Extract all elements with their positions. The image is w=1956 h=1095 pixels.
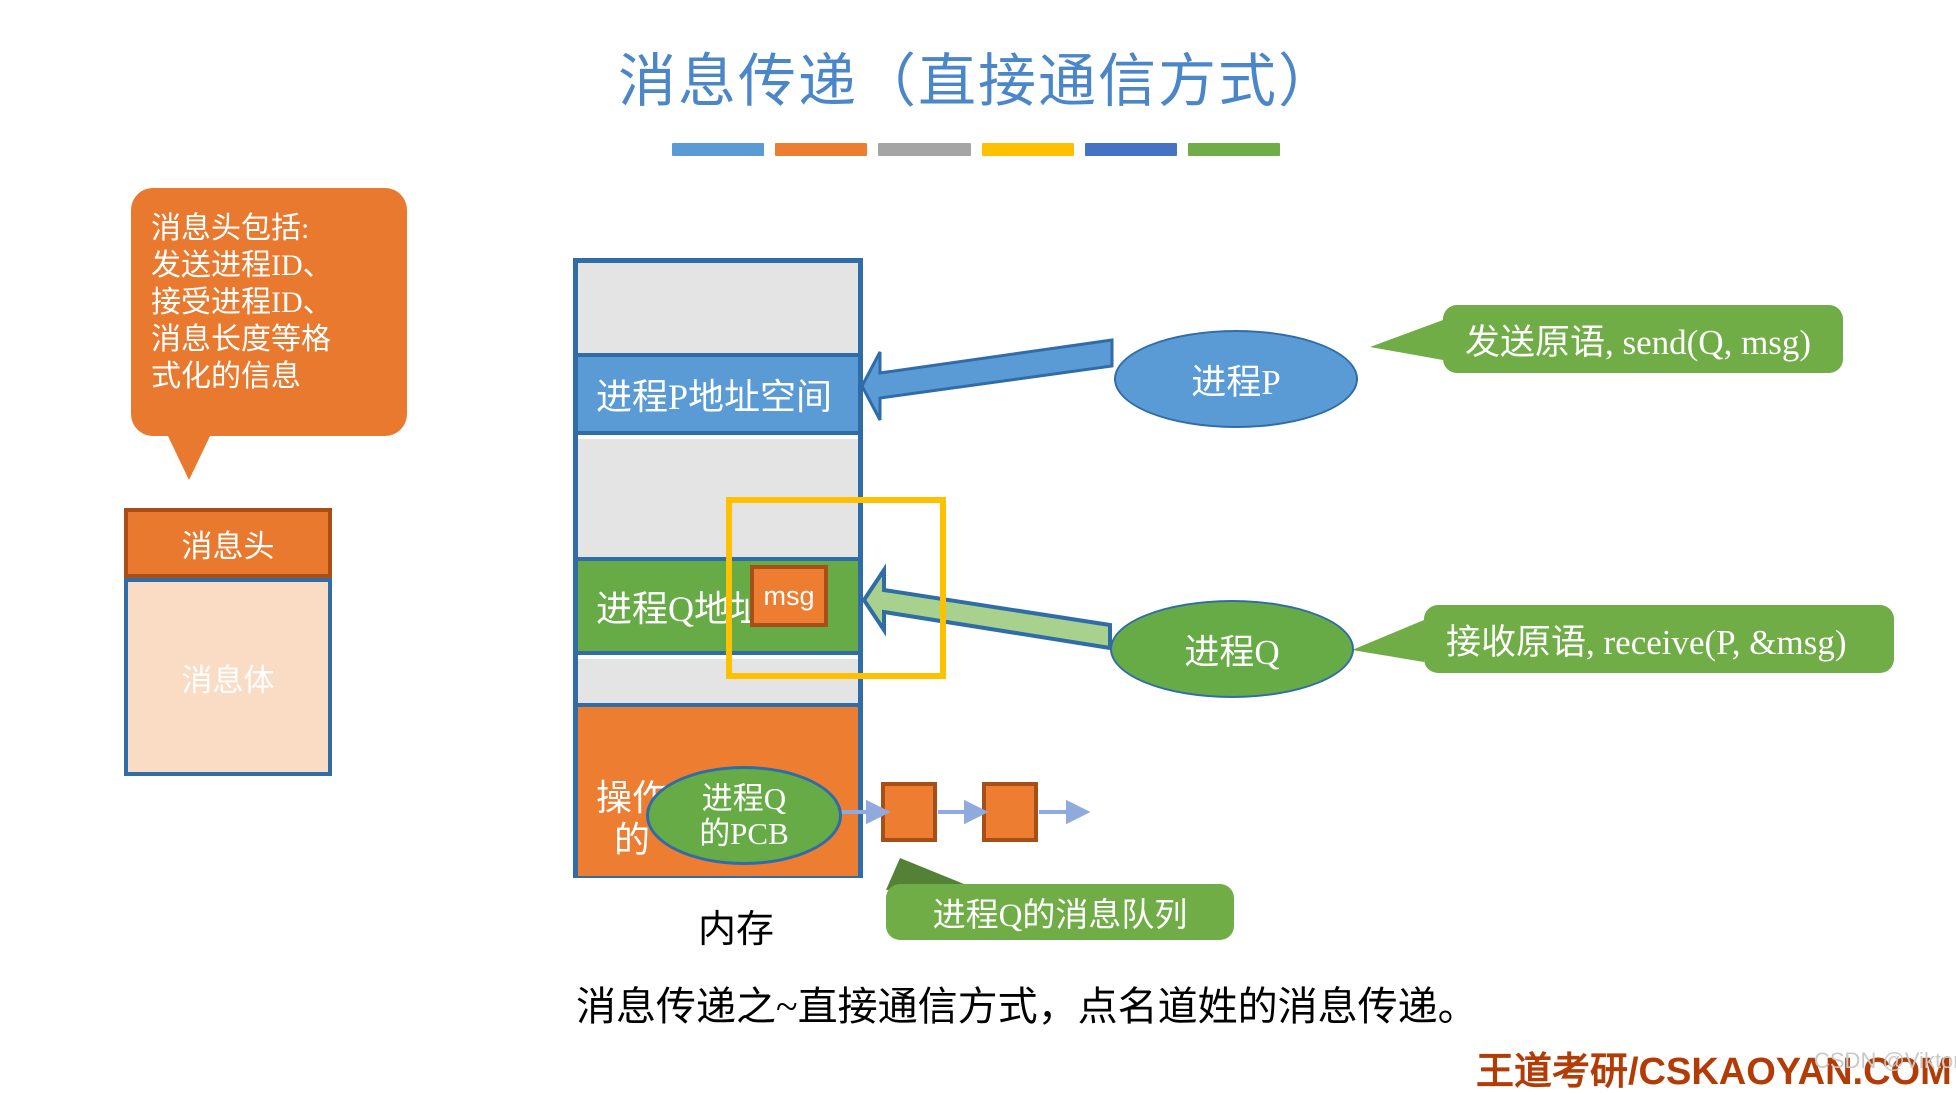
callout-line-3: 接受进程ID、 bbox=[151, 284, 407, 321]
title-rule-seg-6 bbox=[1188, 143, 1280, 156]
memory-band-process-p: 进程P地址空间 bbox=[578, 353, 858, 435]
process-p-ellipse: 进程P bbox=[1114, 330, 1358, 428]
send-callout-tail-icon bbox=[1370, 320, 1443, 360]
callout-line-5: 式化的信息 bbox=[151, 358, 407, 395]
queue-link-arrows bbox=[838, 803, 1086, 821]
page-title: 消息传递（直接通信方式） bbox=[0, 34, 1956, 118]
watermark-csdn: CSDN @Viktoriae bbox=[1814, 1048, 1956, 1074]
title-rule-seg-3 bbox=[878, 143, 970, 156]
callout-tail-icon bbox=[167, 434, 211, 480]
pcb-line-2: 的PCB bbox=[699, 816, 789, 851]
callout-line-1: 消息头包括: bbox=[151, 210, 407, 247]
callout-line-2: 发送进程ID、 bbox=[151, 247, 407, 284]
title-rule-seg-5 bbox=[1085, 143, 1177, 156]
message-header-box: 消息头 bbox=[124, 508, 332, 578]
process-q-pcb-ellipse: 进程Q 的PCB bbox=[646, 766, 842, 865]
bottom-caption: 消息传递之~直接通信方式，点名道姓的消息传递。 bbox=[576, 974, 1478, 1032]
message-queue-callout: 进程Q的消息队列 bbox=[886, 884, 1234, 940]
memory-label: 内存 bbox=[676, 898, 796, 953]
title-rule-seg-2 bbox=[775, 143, 867, 156]
message-body-box: 消息体 bbox=[124, 578, 332, 776]
callout-line-4: 消息长度等格 bbox=[151, 321, 407, 358]
title-rule-seg-1 bbox=[672, 143, 764, 156]
highlight-rectangle bbox=[726, 497, 946, 679]
memory-band-gap-top bbox=[578, 263, 858, 353]
receive-callout-tail-icon bbox=[1352, 620, 1424, 662]
send-primitive-callout: 发送原语, send(Q, msg) bbox=[1443, 305, 1843, 373]
title-rule bbox=[672, 143, 1280, 156]
queue-box-1 bbox=[881, 782, 937, 842]
send-arrow-icon bbox=[862, 340, 1112, 420]
process-q-ellipse: 进程Q bbox=[1110, 600, 1354, 698]
queue-box-2 bbox=[982, 782, 1038, 842]
message-header-callout: 消息头包括: 发送进程ID、 接受进程ID、 消息长度等格 式化的信息 bbox=[131, 188, 407, 436]
receive-primitive-callout: 接收原语, receive(P, &msg) bbox=[1424, 605, 1894, 673]
title-rule-seg-4 bbox=[982, 143, 1074, 156]
pcb-line-1: 进程Q bbox=[702, 781, 786, 816]
